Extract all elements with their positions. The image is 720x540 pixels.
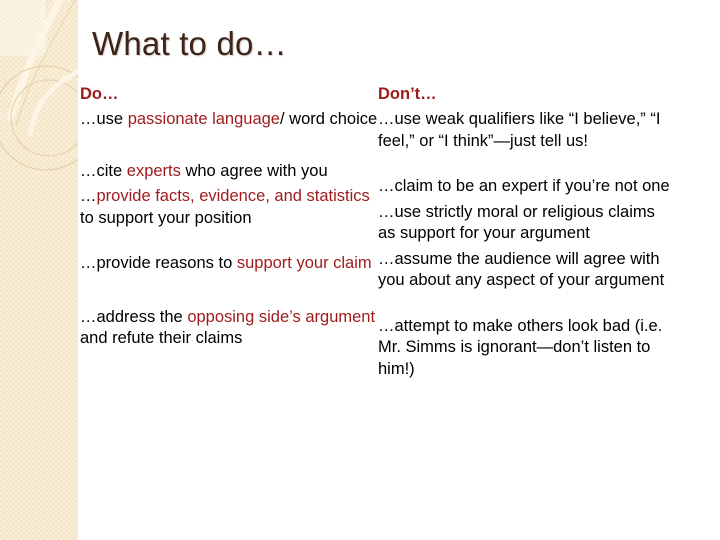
accent-text-run: provide facts, evidence, and statistics (97, 187, 370, 205)
slide: What to do… Do… …use passionate language… (0, 0, 720, 540)
do-entry-4: …provide reasons to support your claim (80, 253, 378, 275)
do-entry-5: …address the opposing side’s argument an… (80, 307, 378, 350)
accent-text-run: opposing side’s argument (187, 308, 375, 326)
text-run: to support your position (80, 209, 252, 227)
dont-entry-5: …attempt to make others look bad (i.e. M… (378, 316, 676, 381)
accent-text-run: passionate language (128, 110, 280, 128)
text-run: …attempt to make others look bad (i.e. M… (378, 317, 662, 378)
do-entry-3: …provide facts, evidence, and statistics… (80, 186, 378, 229)
text-run: …claim to be an expert if you’re not one (378, 177, 670, 195)
column-dont: Don’t… …use weak qualifiers like “I beli… (378, 84, 676, 380)
column-do-heading: Do… (80, 84, 378, 105)
decorative-side-band (0, 0, 78, 540)
dont-entry-3: …use strictly moral or religious claims … (378, 202, 676, 245)
text-run: …assume the audience will agree with you… (378, 250, 664, 290)
dont-entry-2: …claim to be an expert if you’re not one (378, 176, 676, 198)
spacer (80, 131, 378, 161)
accent-text-run: experts (127, 162, 181, 180)
text-run: who agree with you (181, 162, 328, 180)
text-run: …use weak qualifiers like “I believe,” “… (378, 110, 660, 150)
accent-text-run: support your claim (237, 254, 372, 272)
text-run: and refute their claims (80, 329, 242, 347)
spacer (378, 292, 676, 316)
page-title: What to do… (92, 24, 287, 64)
spacer (80, 229, 378, 253)
text-run: …cite (80, 162, 127, 180)
content-columns: Do… …use passionate language/ word choic… (78, 84, 720, 534)
text-run: / word choice (280, 110, 377, 128)
column-dont-heading: Don’t… (378, 84, 676, 105)
text-run: … (80, 187, 97, 205)
dont-entry-1: …use weak qualifiers like “I believe,” “… (378, 109, 676, 152)
text-run: …address the (80, 308, 187, 326)
text-run: …use strictly moral or religious claims … (378, 203, 655, 243)
dont-entry-4: …assume the audience will agree with you… (378, 249, 676, 292)
column-do: Do… …use passionate language/ word choic… (80, 84, 378, 350)
spacer (80, 275, 378, 307)
do-entry-2: …cite experts who agree with you (80, 161, 378, 183)
do-entry-1: …use passionate language/ word choice (80, 109, 378, 131)
text-run: …provide reasons to (80, 254, 237, 272)
band-arcs-decoration (0, 0, 78, 540)
text-run: …use (80, 110, 128, 128)
spacer (378, 152, 676, 176)
